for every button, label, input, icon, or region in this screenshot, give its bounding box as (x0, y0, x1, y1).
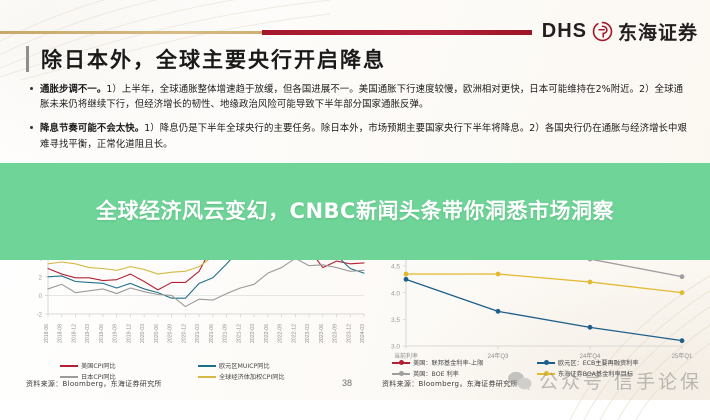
legend-swatch (60, 365, 78, 367)
legend-swatch (198, 365, 216, 367)
legend-swatch (537, 362, 555, 364)
svg-text:2: 2 (39, 275, 43, 281)
legend-label: 美国：联邦基金利率-上限 (413, 358, 483, 367)
svg-text:2022-09: 2022-09 (278, 324, 284, 343)
svg-text:2024-03: 2024-03 (360, 324, 366, 343)
svg-text:2020-09: 2020-09 (168, 324, 174, 343)
svg-text:-2: -2 (37, 313, 43, 319)
title-accent-bar (26, 46, 29, 72)
svg-text:4.5: 4.5 (391, 264, 400, 271)
bullet-lead: 通胀步调不一。 (40, 84, 106, 95)
watermark-text: 公众号 信手论保 (539, 367, 702, 394)
rule-gold-segment (0, 31, 262, 34)
legend-swatch (392, 373, 410, 375)
legend-label: 英国：BOE 利率 (413, 369, 459, 378)
svg-text:2019-06: 2019-06 (99, 324, 105, 343)
svg-text:2023-12: 2023-12 (346, 324, 352, 343)
svg-text:2023-03: 2023-03 (305, 324, 311, 343)
svg-text:2021-03: 2021-03 (195, 324, 201, 343)
svg-text:0: 0 (39, 294, 43, 300)
slide-canvas: DHS 东海证券 除日本外，全球主要央行开启降息 通胀步调不一。1）上半年，全球… (0, 0, 710, 400)
svg-text:3.0: 3.0 (391, 344, 400, 351)
svg-text:2023-09: 2023-09 (333, 324, 339, 343)
bullet-item: 降息节奏可能不会太快。1）降息仍是下半年全球央行的主要任务。除日本外，市场预期主… (30, 121, 690, 151)
svg-text:2021-06: 2021-06 (209, 324, 215, 343)
legend-swatch (392, 362, 410, 364)
legend-label: 美国CPI同比 (81, 361, 116, 370)
bullet-item: 通胀步调不一。1）上半年，全球通胀整体增速趋于放缓，但各国进展不一。美国通胀下行… (30, 82, 690, 112)
overlay-banner: 全球经济风云变幻，CNBC新闻头条带你洞悉市场洞察 (0, 163, 710, 260)
bullet-list: 通胀步调不一。1）上半年，全球通胀整体增速趋于放缓，但各国进展不一。美国通胀下行… (30, 82, 690, 161)
svg-text:2020-06: 2020-06 (154, 324, 160, 343)
logo-company-name: 东海证券 (618, 18, 698, 45)
svg-text:3.5: 3.5 (391, 317, 400, 324)
title-text: 除日本外，全球主要央行开启降息 (41, 44, 386, 74)
legend-item: 欧元区：ECB主要再融资利率 (537, 358, 696, 367)
page-number: 38 (342, 378, 352, 388)
bullet-text: 降息节奏可能不会太快。1）降息仍是下半年全球央行的主要任务。除日本外，市场预期主… (40, 121, 690, 151)
wechat-icon (507, 370, 533, 392)
bullet-lead: 降息节奏可能不会太快。 (40, 123, 144, 134)
svg-text:2022-06: 2022-06 (264, 324, 270, 343)
legend-item: 欧元区MUICP同比 (198, 361, 372, 370)
svg-text:2020-12: 2020-12 (181, 324, 187, 343)
svg-text:2019-12: 2019-12 (126, 324, 132, 343)
legend-label: 欧元区：ECB主要再融资利率 (558, 358, 639, 367)
page-title: 除日本外，全球主要央行开启降息 (26, 44, 386, 74)
legend-swatch (60, 376, 78, 378)
dhs-circle-mark-icon (592, 21, 613, 42)
svg-text:2023-06: 2023-06 (319, 324, 325, 343)
bullet-text: 通胀步调不一。1）上半年，全球通胀整体增速趋于放缓，但各国进展不一。美国通胀下行… (40, 82, 690, 112)
source-note-right: 资料来源：Bloomberg，东海证券研究所 (382, 379, 518, 389)
legend-label: 欧元区MUICP同比 (219, 361, 270, 370)
legend-item: 美国CPI同比 (24, 361, 198, 370)
svg-text:2018-06: 2018-06 (44, 324, 50, 343)
svg-text:2019-03: 2019-03 (85, 324, 91, 343)
logo-dhs-text: DHS (542, 20, 587, 43)
svg-text:2020-03: 2020-03 (140, 324, 146, 343)
legend-item: 美国：联邦基金利率-上限 (378, 358, 537, 367)
svg-text:2021-12: 2021-12 (236, 324, 242, 343)
watermark: 公众号 信手论保 (507, 367, 702, 394)
bullet-dot-icon (30, 121, 40, 151)
brand-logo: DHS 东海证券 (542, 18, 698, 45)
svg-text:2018-12: 2018-12 (71, 324, 77, 343)
rule-red-segment (262, 30, 532, 35)
overlay-banner-text: 全球经济风云变幻，CNBC新闻头条带你洞悉市场洞察 (35, 196, 675, 226)
svg-text:2022-12: 2022-12 (291, 324, 297, 343)
legend-label: 全球经济体加权CPI同比 (219, 372, 285, 381)
svg-text:4.0: 4.0 (391, 290, 400, 297)
svg-text:2021-09: 2021-09 (223, 324, 229, 343)
svg-text:2022-03: 2022-03 (250, 324, 256, 343)
svg-text:2018-09: 2018-09 (58, 324, 64, 343)
bullet-dot-icon (30, 82, 40, 112)
svg-text:2019-09: 2019-09 (113, 324, 119, 343)
source-note-left: 资料来源：Bloomberg，东海证券研究所 (26, 379, 162, 389)
bullet-body: 1）上半年，全球通胀整体增速趋于放缓，但各国进展不一。美国通胀下行速度较慢，欧洲… (40, 84, 683, 110)
legend-swatch (198, 376, 216, 378)
